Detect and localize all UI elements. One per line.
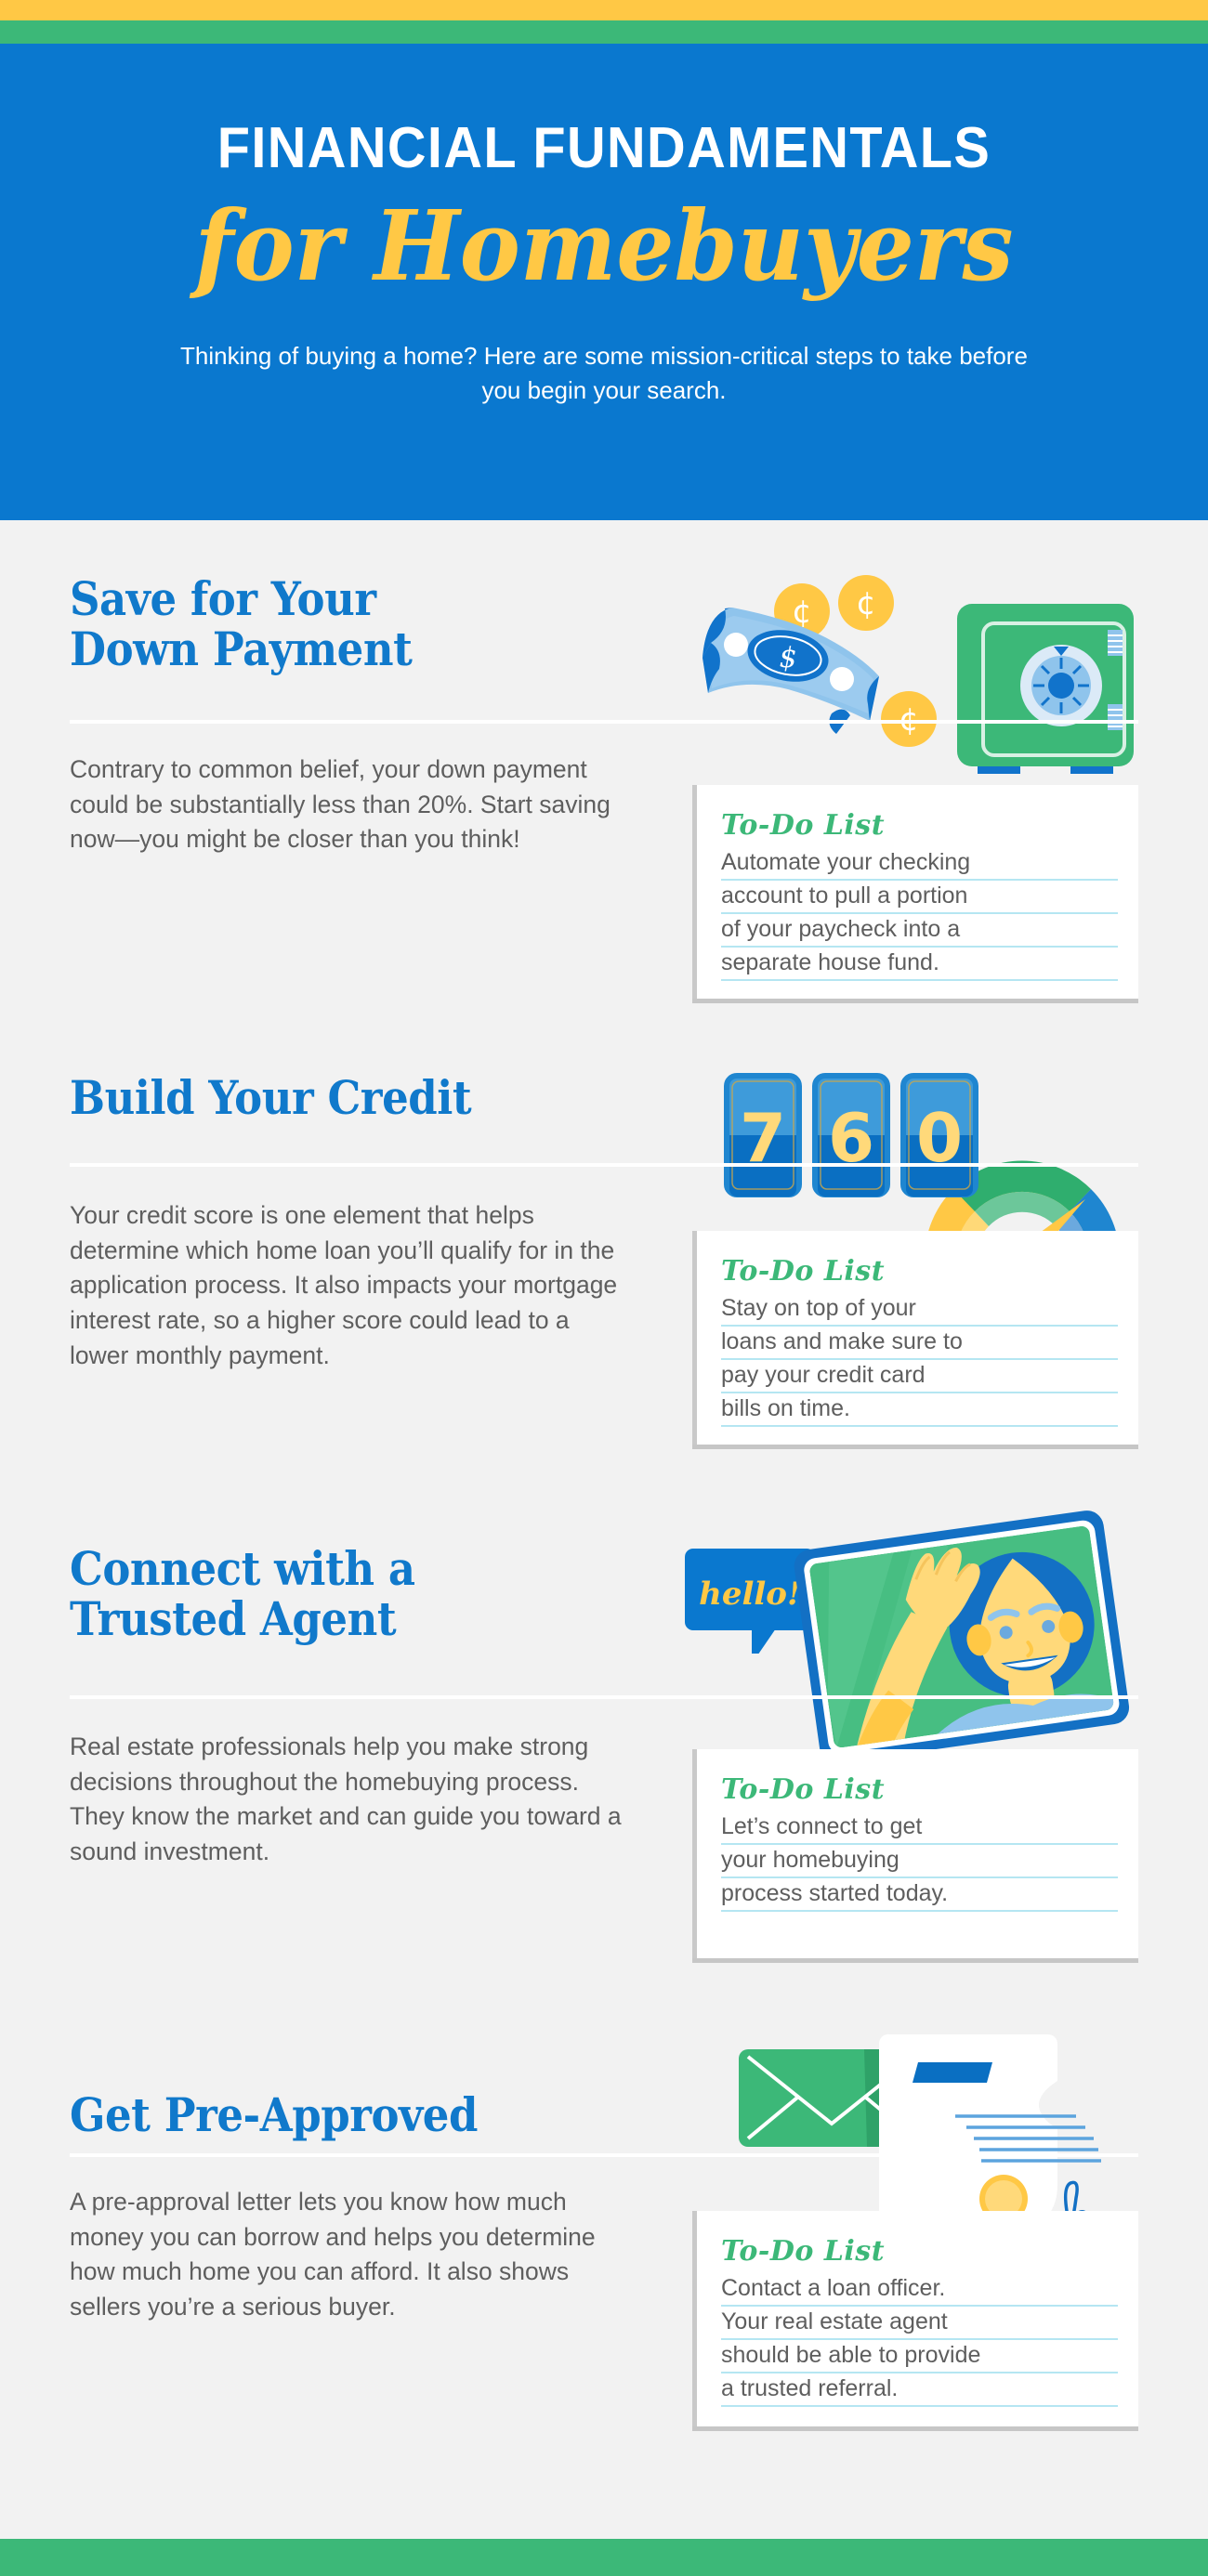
section-heading: Connect with a Trusted Agent [70,1544,664,1644]
todo-card: To-Do List Automate your checking accoun… [692,785,1138,999]
todo-card-title: To-Do List [697,785,1138,845]
section-body-text: A pre-approval letter lets you know how … [70,2185,627,2325]
todo-line: should be able to provide [721,2344,1118,2373]
top-accent-bar-yellow [0,0,1208,20]
todo-card-lines: Stay on top of your loans and make sure … [697,1291,1138,1427]
todo-card-title: To-Do List [697,1231,1138,1291]
section-divider [70,2153,1138,2157]
section-heading: Build Your Credit [70,1073,664,1123]
todo-card: To-Do List Contact a loan officer. Your … [692,2211,1138,2426]
cent-coin-icon: ¢ [838,575,894,631]
agent-photo-illustration [785,1503,1138,1772]
todo-line: loans and make sure to [721,1330,1118,1360]
section-divider [70,1695,1138,1699]
credit-score-digit-card: 7 [727,1076,799,1196]
todo-line: Let’s connect to get [721,1815,1118,1845]
todo-line: Stay on top of your [721,1297,1118,1327]
todo-line: your homebuying [721,1849,1118,1878]
todo-line: pay your credit card [721,1364,1118,1393]
section-divider [70,1163,1138,1167]
credit-score-digit-card: 0 [903,1076,976,1196]
section-body-text: Your credit score is one element that he… [70,1198,627,1373]
section-title-line2: Down Payment [70,624,605,674]
section-divider [70,720,1138,724]
top-accent-bar-green [0,20,1208,44]
section-body-text: Real estate professionals help you make … [70,1730,627,1870]
page-description: Thinking of buying a home? Here are some… [0,339,1208,408]
svg-text:¢: ¢ [856,585,876,622]
todo-card-lines: Automate your checking account to pull a… [697,845,1138,981]
todo-line: Automate your checking [721,851,1118,881]
section-heading: Save for Your Down Payment [70,574,664,674]
infographic-page: FINANCIAL FUNDAMENTALS for Homebuyers Th… [0,0,1208,2576]
section-title-line1: Save for Your [70,574,605,624]
footer-accent-bar [0,2539,1208,2576]
todo-line: Your real estate agent [721,2310,1118,2340]
todo-line: process started today. [721,1882,1118,1912]
todo-line: a trusted referral. [721,2377,1118,2407]
todo-card-title: To-Do List [697,1749,1138,1810]
todo-card-title: To-Do List [697,2211,1138,2271]
todo-card-lines: Contact a loan officer. Your real estate… [697,2271,1138,2407]
section-title-line2: Trusted Agent [70,1594,605,1644]
safe-icon [957,604,1134,774]
page-subtitle: for Homebuyers [36,198,1172,294]
section-title-line1: Build Your Credit [70,1073,605,1123]
page-header: FINANCIAL FUNDAMENTALS for Homebuyers Th… [0,44,1208,520]
approval-letter-icon [879,2034,1113,2237]
credit-score-digit-card: 6 [815,1076,887,1196]
todo-line: separate house fund. [721,951,1118,981]
money-and-safe-illustration: ¢ ¢ ¢ [688,565,1134,774]
section-body-text: Contrary to common belief, your down pay… [70,752,627,857]
todo-card: To-Do List Let’s connect to get your hom… [692,1749,1138,1958]
todo-line: bills on time. [721,1397,1118,1427]
todo-line: of your paycheck into a [721,918,1118,948]
todo-line: account to pull a portion [721,884,1118,914]
todo-line: Contact a loan officer. [721,2277,1118,2307]
page-title: FINANCIAL FUNDAMENTALS [43,44,1166,177]
svg-text:$: $ [779,642,796,674]
section-heading: Get Pre-Approved [70,2090,664,2140]
section-title-line1: Get Pre-Approved [70,2090,605,2140]
todo-card-lines: Let’s connect to get your homebuying pro… [697,1810,1138,1912]
section-title-line1: Connect with a [70,1544,605,1594]
cent-coin-icon: ¢ [881,691,937,747]
todo-card: To-Do List Stay on top of your loans and… [692,1231,1138,1445]
